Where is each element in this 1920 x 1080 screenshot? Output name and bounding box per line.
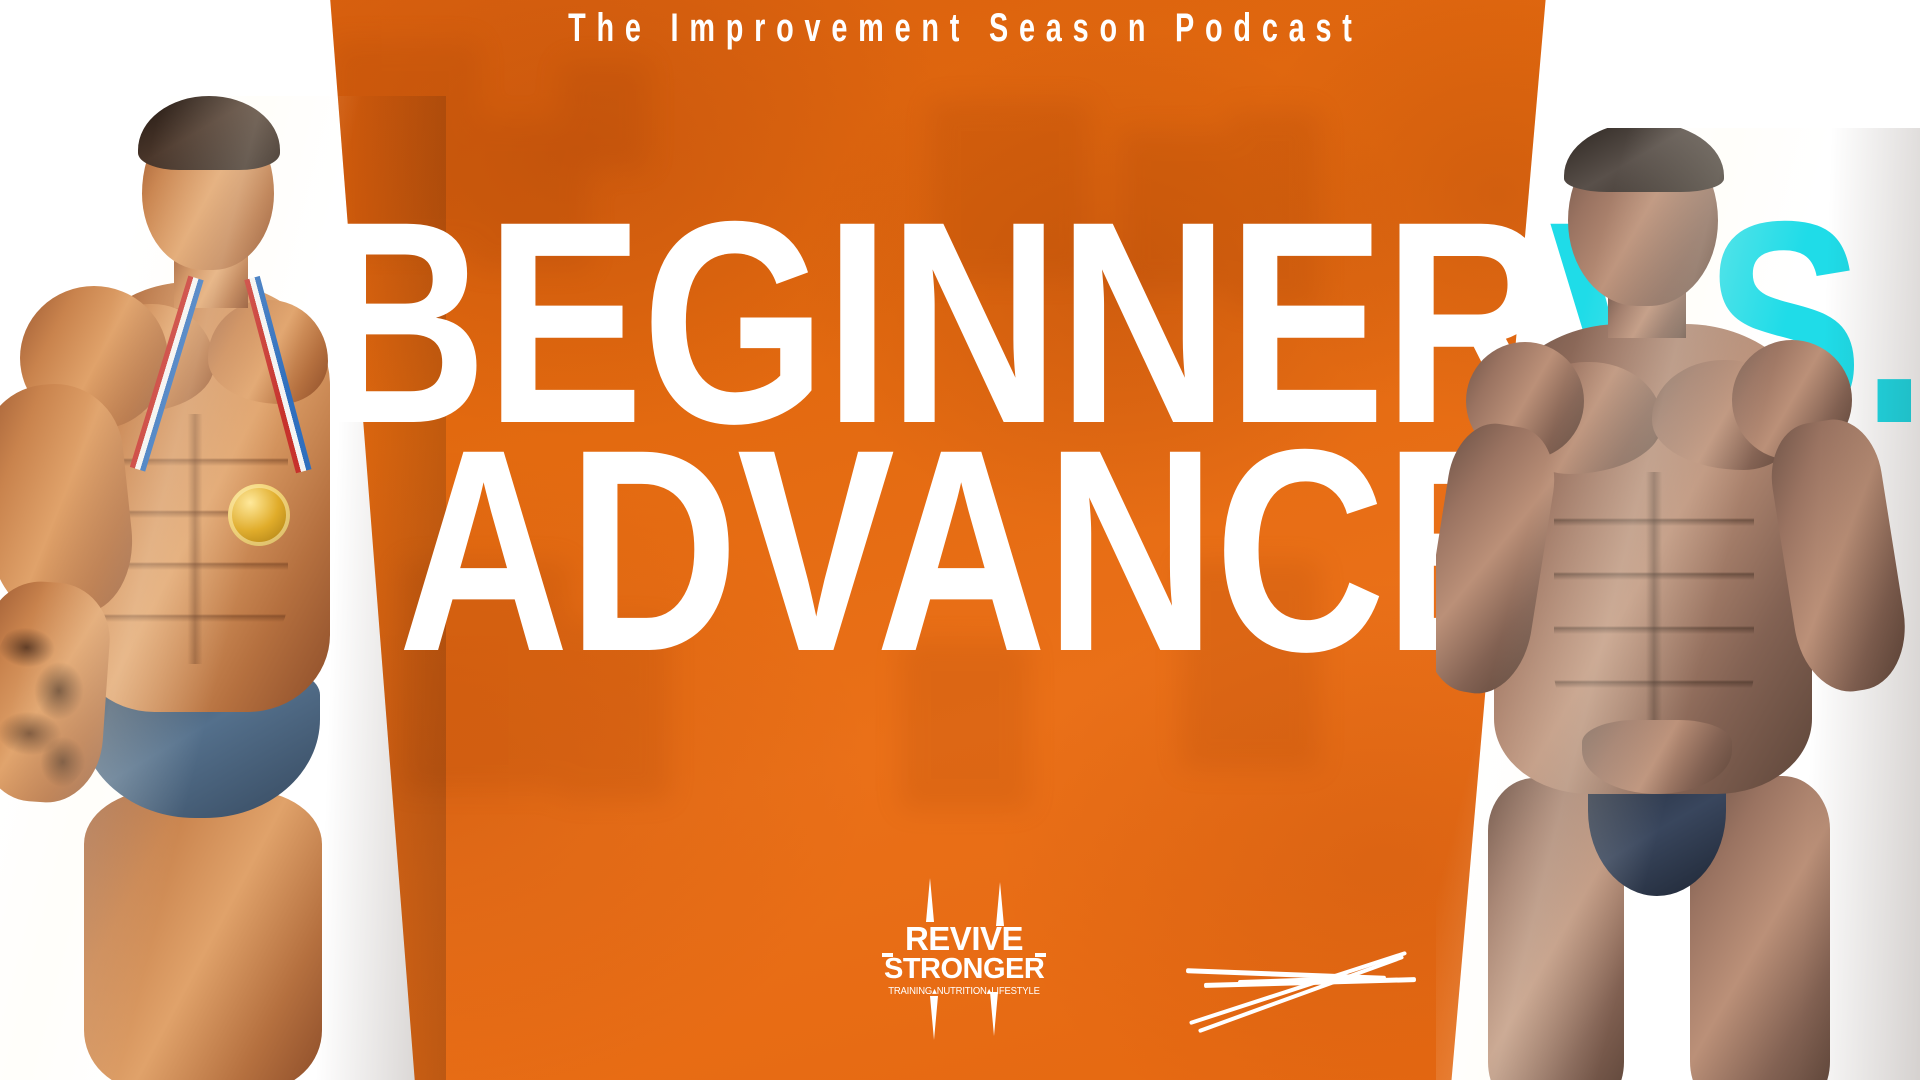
logo-spike-down-left (930, 996, 938, 1040)
logo-word-revive: REVIVE (884, 922, 1044, 955)
logo-word-stronger: STRONGER (884, 955, 1044, 985)
right-hair (1564, 128, 1724, 192)
podcast-thumbnail: BEGINNERVS. ADVANCED The Improvement Sea… (0, 0, 1920, 1080)
left-hair (138, 96, 280, 170)
bodybuilder-right-advanced (1436, 128, 1920, 1080)
logo-tagline: TRAINING▴NUTRITION▴LIFESTYLE (888, 985, 1040, 998)
logo-spike-down-right (990, 992, 998, 1036)
podcast-strapline: The Improvement Season Podcast (269, 6, 1651, 51)
bodybuilder-left-beginner (0, 96, 446, 1080)
logo-dash-right (1035, 953, 1046, 957)
gold-medal (228, 484, 290, 546)
crossed-lines-logo[interactable] (1178, 928, 1428, 1038)
revive-stronger-logo[interactable]: REVIVE STRONGER TRAINING▴NUTRITION▴LIFES… (884, 922, 1044, 1042)
cross-stroke-3 (1189, 951, 1407, 1025)
logo-dash-left (882, 953, 893, 957)
logo-spike-up-right (996, 882, 1004, 926)
cross-stroke-4 (1198, 955, 1404, 1033)
logo-spike-up-left (926, 878, 934, 922)
